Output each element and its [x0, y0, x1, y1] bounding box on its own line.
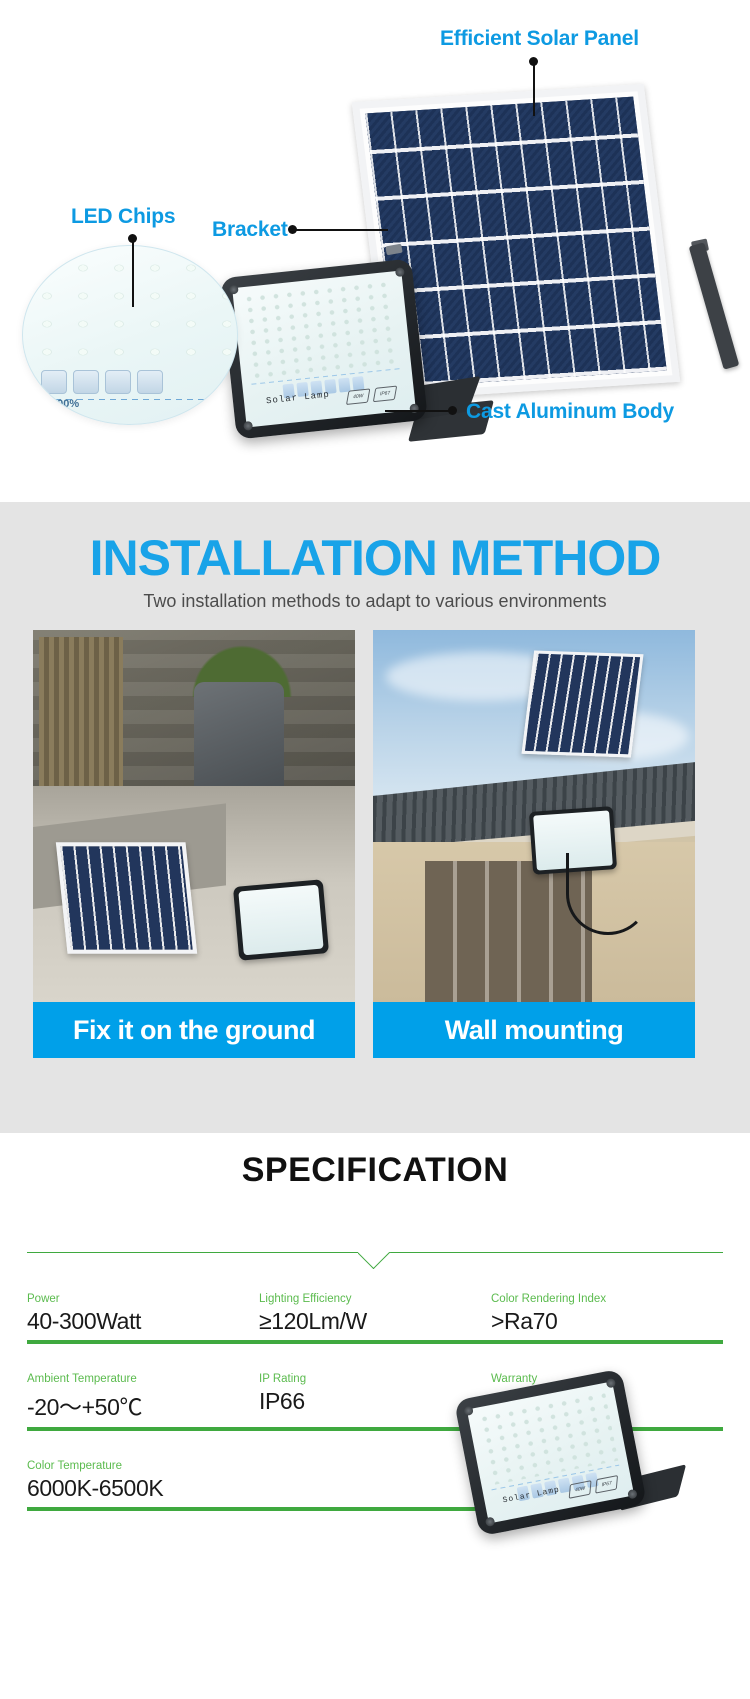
- callout-label-solar-panel: Efficient Solar Panel: [440, 27, 639, 51]
- installation-card-ground[interactable]: Fix it on the ground: [33, 630, 355, 1058]
- spec-label: Power: [27, 1293, 259, 1305]
- installation-cards: Fix it on the ground Wall mounting: [33, 630, 695, 1058]
- spec-cell: Color Rendering Index >Ra70: [491, 1293, 723, 1335]
- spec-label: Color Temperature: [27, 1460, 285, 1472]
- panel-support-leg: [689, 242, 740, 369]
- spec-label: Lighting Efficiency: [259, 1293, 491, 1305]
- callout-leader-bracket: [296, 229, 388, 231]
- callout-label-cast-aluminum-body: Cast Aluminum Body: [466, 400, 674, 424]
- lamp-brand-text: Solar Lamp: [266, 390, 331, 407]
- hero-section: Solar Lamp 40W IP67 100% Eff: [0, 0, 750, 502]
- installation-caption-wall: Wall mounting: [373, 1002, 695, 1058]
- lamp-housing: Solar Lamp 40W IP67: [454, 1369, 647, 1537]
- photo-solar-panel: [521, 651, 644, 758]
- lamp-badge-wattage: 40W: [346, 388, 370, 405]
- installation-section: INSTALLATION METHOD Two installation met…: [0, 502, 750, 1133]
- screw-icon: [627, 1489, 638, 1500]
- callout-leader-led-chips: [132, 239, 134, 307]
- callout-leader-cast-aluminum-body: [385, 410, 449, 412]
- installation-photo-ground: [33, 630, 355, 1002]
- specification-section: SPECIFICATION Power 40-300Watt Lighting …: [0, 1133, 750, 1699]
- spec-cell: Lighting Efficiency ≥120Lm/W: [259, 1293, 491, 1335]
- lamp-led-array: [242, 278, 402, 379]
- screw-icon: [485, 1516, 496, 1527]
- installation-caption-ground: Fix it on the ground: [33, 1002, 355, 1058]
- lamp-face: Solar Lamp 40W IP67: [232, 270, 416, 427]
- callout-label-led-chips: LED Chips: [71, 205, 175, 229]
- bottom-product-image: Solar Lamp 40W IP67: [460, 1375, 652, 1540]
- photo-flood-lamp: [233, 879, 329, 961]
- spec-value: -20〜+50℃: [27, 1388, 259, 1422]
- specification-title: SPECIFICATION: [0, 1151, 750, 1190]
- callout-label-bracket: Bracket: [212, 218, 288, 242]
- spec-value: >Ra70: [491, 1308, 723, 1335]
- led-mode-icons: [41, 370, 163, 394]
- lamp-badge-wattage: 40W: [569, 1480, 592, 1499]
- lamp-housing: Solar Lamp 40W IP67: [220, 258, 428, 439]
- specification-divider-notch: [358, 1252, 392, 1269]
- led-chip-grid: [29, 254, 231, 366]
- photo-cable: [566, 853, 650, 935]
- callout-dot-cast-aluminum-body: [448, 406, 457, 415]
- lamp-face: Solar Lamp 40W IP67: [467, 1381, 634, 1523]
- spec-label: Color Rendering Index: [491, 1293, 723, 1305]
- spec-row: Power 40-300Watt Lighting Efficiency ≥12…: [27, 1293, 723, 1344]
- spec-value: ≥120Lm/W: [259, 1308, 491, 1335]
- spec-label: IP Rating: [259, 1373, 491, 1385]
- lamp-badge-ip: IP67: [373, 386, 397, 403]
- screw-icon: [243, 421, 253, 431]
- spec-value: 40-300Watt: [27, 1308, 259, 1335]
- led-percent-label: 100%: [51, 398, 79, 410]
- led-chips-magnifier: 100%: [22, 245, 238, 425]
- spec-label: Ambient Temperature: [27, 1373, 259, 1385]
- spec-value: 6000K-6500K: [27, 1475, 285, 1502]
- installation-title: INSTALLATION METHOD: [0, 529, 750, 587]
- installation-photo-wall: [373, 630, 695, 1002]
- spec-cell: Ambient Temperature -20〜+50℃: [27, 1373, 259, 1422]
- screw-icon: [395, 267, 405, 277]
- callout-leader-solar-panel: [533, 62, 535, 116]
- spec-cell: Power 40-300Watt: [27, 1293, 259, 1335]
- lamp-badge-ip: IP67: [595, 1475, 618, 1494]
- flood-lamp-image: Solar Lamp 40W IP67: [220, 258, 428, 439]
- screw-icon: [606, 1378, 617, 1389]
- installation-card-wall[interactable]: Wall mounting: [373, 630, 695, 1058]
- photo-solar-panel: [56, 842, 197, 953]
- product-detail-page: Solar Lamp 40W IP67 100% Eff: [0, 0, 750, 1699]
- spec-cell: Color Temperature 6000K-6500K: [27, 1460, 285, 1502]
- lamp-led-array: [477, 1390, 618, 1485]
- installation-subtitle: Two installation methods to adapt to var…: [0, 591, 750, 612]
